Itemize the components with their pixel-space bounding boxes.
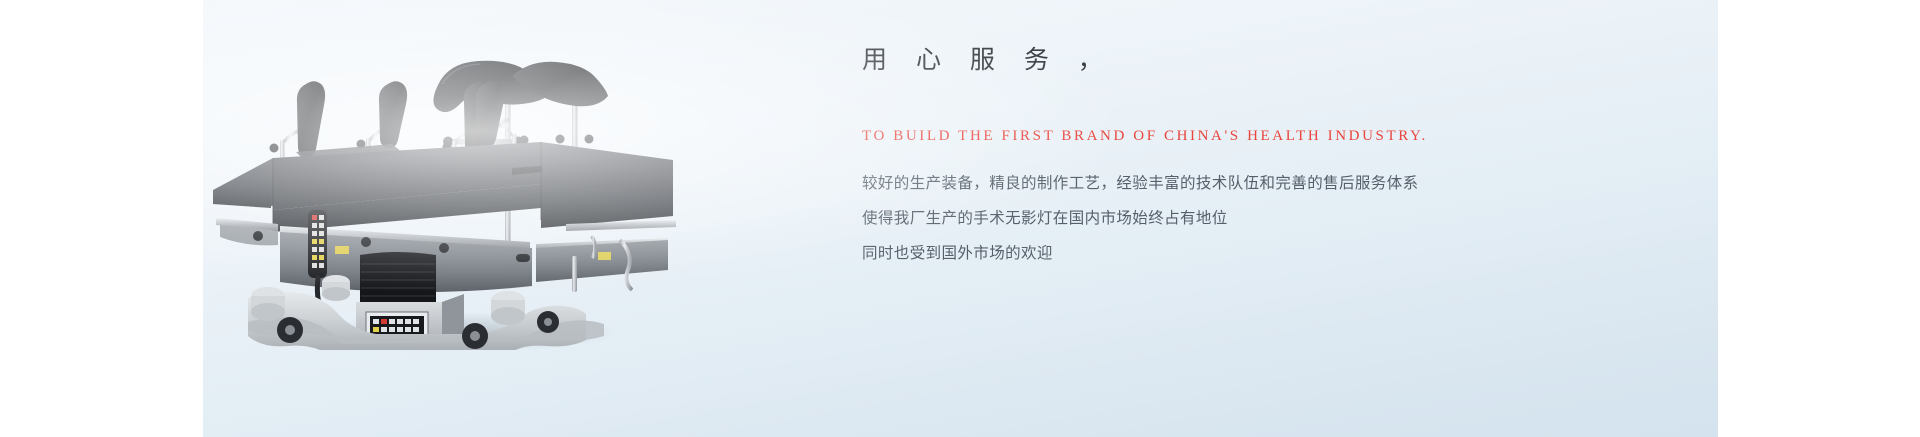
banner-body-copy: 较好的生产装备，精良的制作工艺，经验丰富的技术队伍和完善的售后服务体系 使得我厂…	[862, 166, 1662, 271]
column-bellows	[360, 252, 436, 303]
banner-tagline-english: TO BUILD THE FIRST BRAND OF CHINA'S HEAL…	[862, 126, 1662, 146]
hero-banner-slide[interactable]: 用 心 服 务 ， TO BUILD THE FIRST BRAND OF CH…	[203, 0, 1718, 437]
body-line-3: 同时也受到国外市场的欢迎	[862, 236, 1662, 271]
banner-headline: 用 心 服 务 ，	[862, 44, 1662, 76]
arm-support-pad	[297, 81, 325, 157]
caution-label	[598, 252, 611, 260]
caution-label	[335, 246, 349, 254]
page-root: 用 心 服 务 ， TO BUILD THE FIRST BRAND OF CH…	[0, 0, 1920, 437]
caster-wheel	[251, 287, 285, 321]
caster-wheel	[491, 291, 525, 325]
arm-support-pad	[476, 81, 504, 147]
product-image-operating-table	[203, 40, 880, 350]
arm-support-pad	[379, 81, 407, 148]
body-line-1: 较好的生产装备，精良的制作工艺，经验丰富的技术队伍和完善的售后服务体系	[862, 166, 1662, 201]
caster-wheel	[322, 275, 350, 301]
table-body-housing	[220, 225, 668, 292]
body-line-2: 使得我厂生产的手术无影灯在国内市场始终占有地位	[862, 201, 1662, 236]
banner-copy: 用 心 服 务 ， TO BUILD THE FIRST BRAND OF CH…	[862, 44, 1662, 271]
